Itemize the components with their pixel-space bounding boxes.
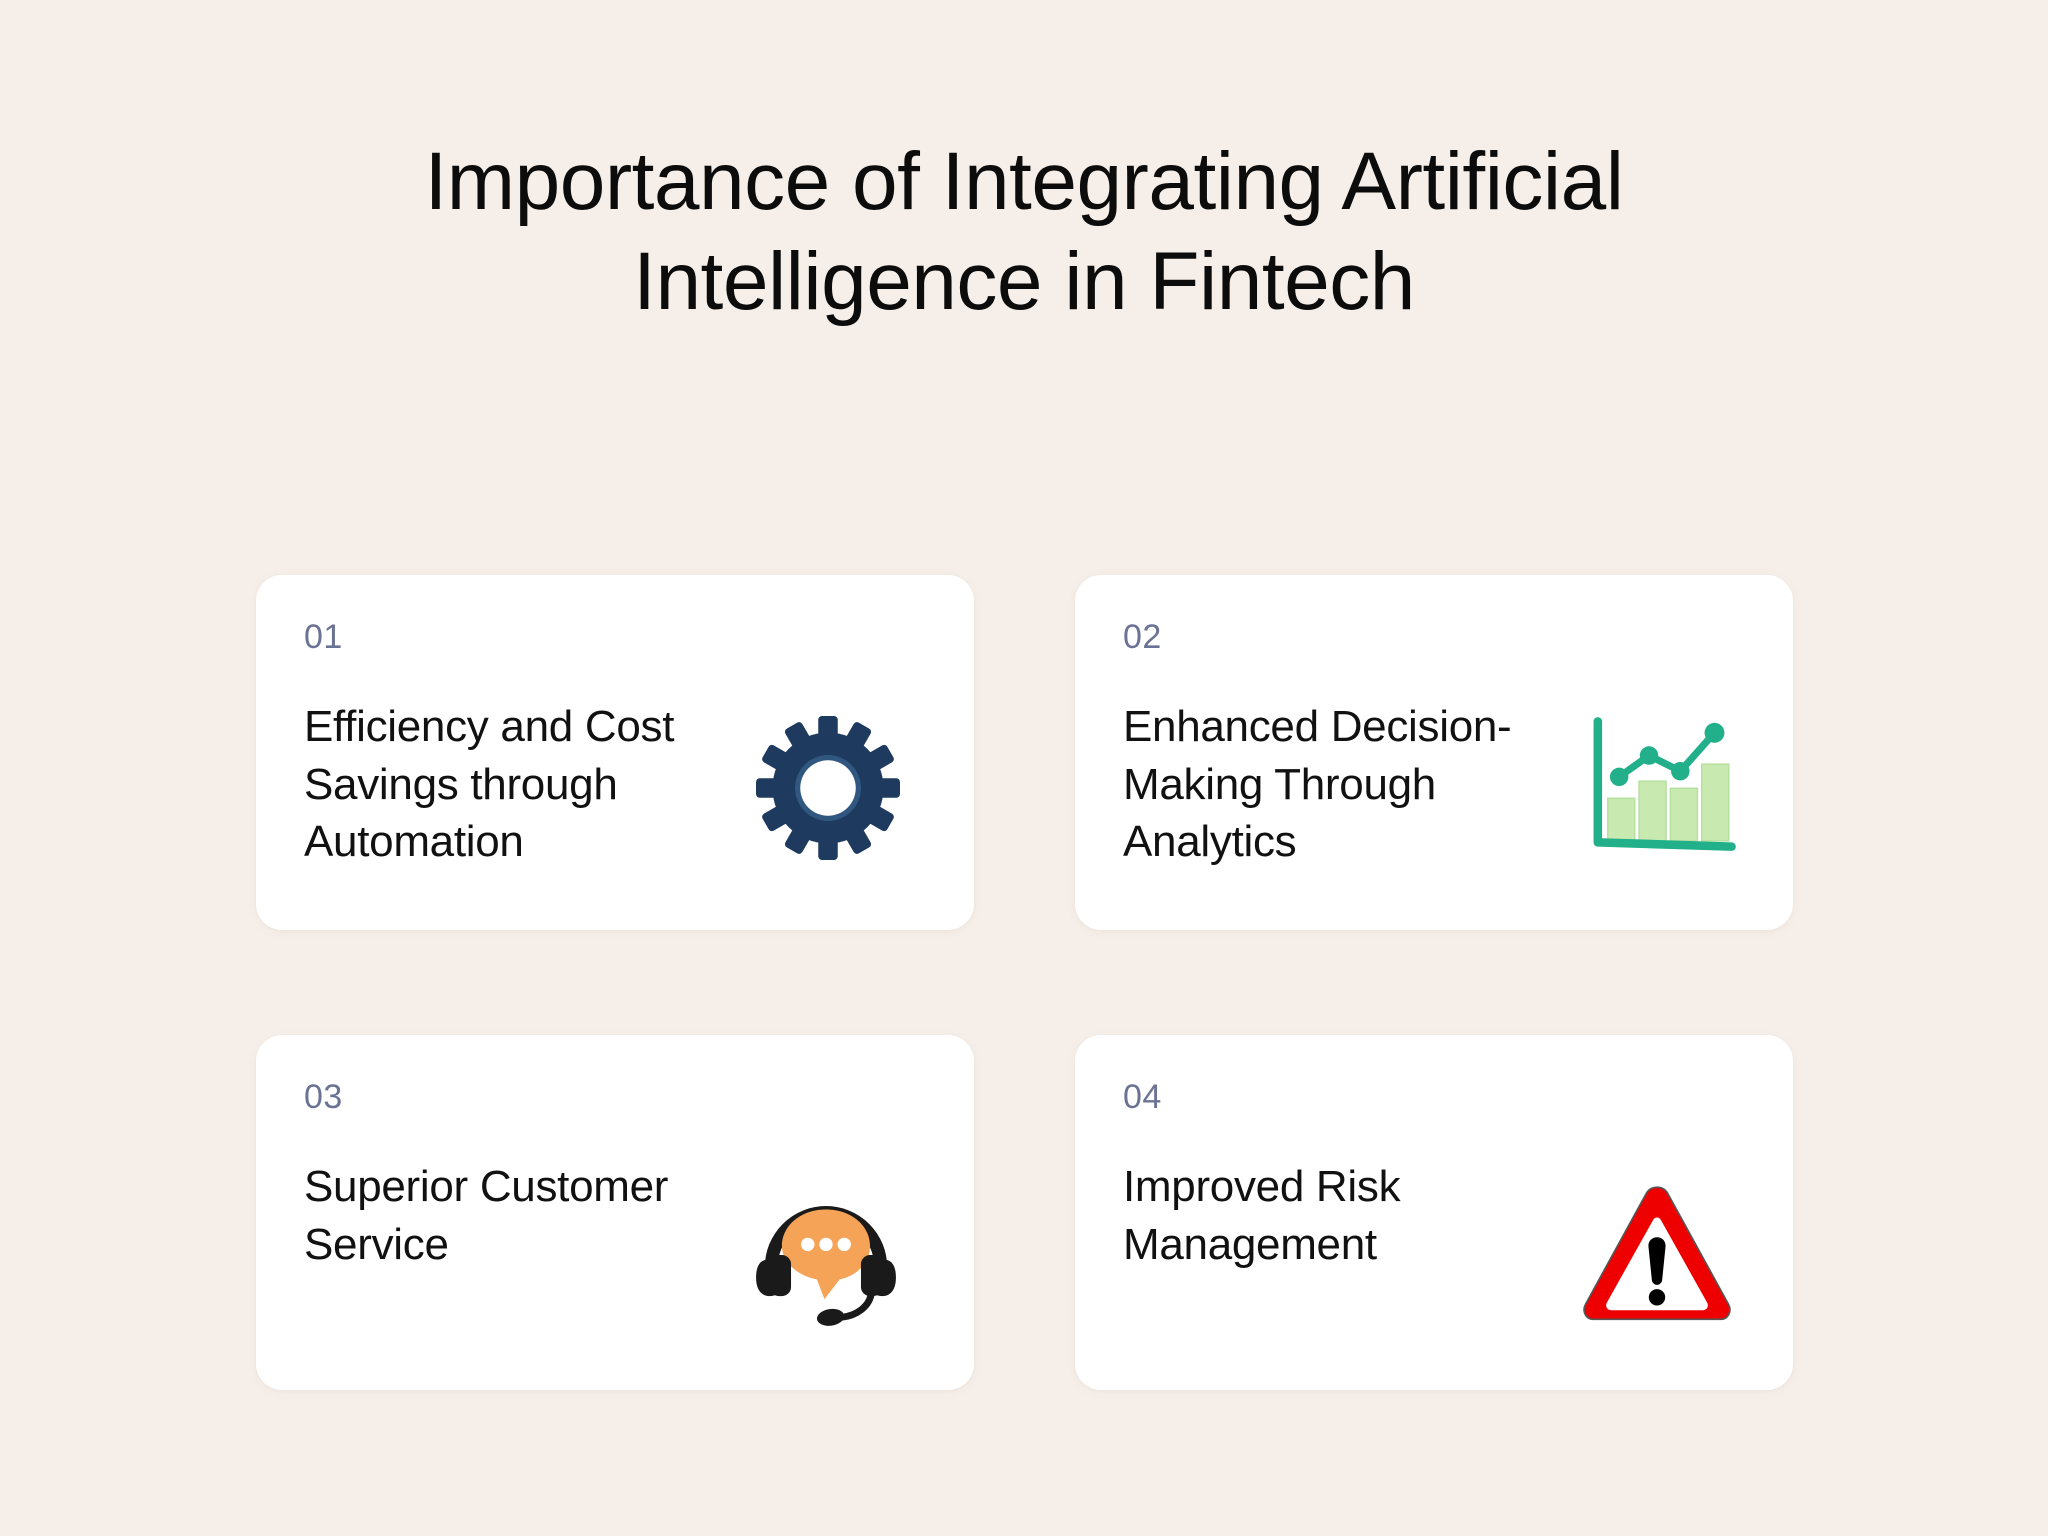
analytics-chart-icon [1575,700,1743,868]
card-body: Improved Risk Management [1123,1158,1745,1338]
card-title: Enhanced Decision-Making Through Analyti… [1123,698,1543,871]
card-improved-risk-management[interactable]: 04 Improved Risk Management [1075,1035,1793,1390]
card-title: Superior Customer Service [304,1158,724,1273]
card-efficiency-automation[interactable]: 01 Efficiency and Cost Savings through A… [256,575,974,930]
page-title: Importance of Integrating ArtificialInte… [0,132,2048,332]
warning-triangle-icon [1573,1170,1741,1338]
card-body: Enhanced Decision-Making Through Analyti… [1123,698,1745,871]
card-number: 04 [1123,1080,1745,1114]
slide-root: Importance of Integrating ArtificialInte… [0,0,2048,1536]
card-enhanced-decision-making[interactable]: 02 Enhanced Decision-Making Through Anal… [1075,575,1793,930]
card-body: Superior Customer Service [304,1158,926,1336]
card-superior-customer-service[interactable]: 03 Superior Customer Service [256,1035,974,1390]
title-line-2: Intelligence in Fintech [633,236,1415,327]
title-line-1: Importance of Integrating Artificial [425,136,1624,227]
card-number: 01 [304,620,926,654]
card-body: Efficiency and Cost Savings through Auto… [304,698,926,872]
card-grid: 01 Efficiency and Cost Savings through A… [256,575,1793,1390]
headset-support-icon [742,1168,910,1336]
slide-title-text: Importance of Integrating ArtificialInte… [0,132,2048,332]
card-number: 02 [1123,620,1745,654]
card-title: Efficiency and Cost Savings through Auto… [304,698,724,871]
card-title: Improved Risk Management [1123,1158,1543,1273]
gear-icon [744,704,912,872]
card-number: 03 [304,1080,926,1114]
